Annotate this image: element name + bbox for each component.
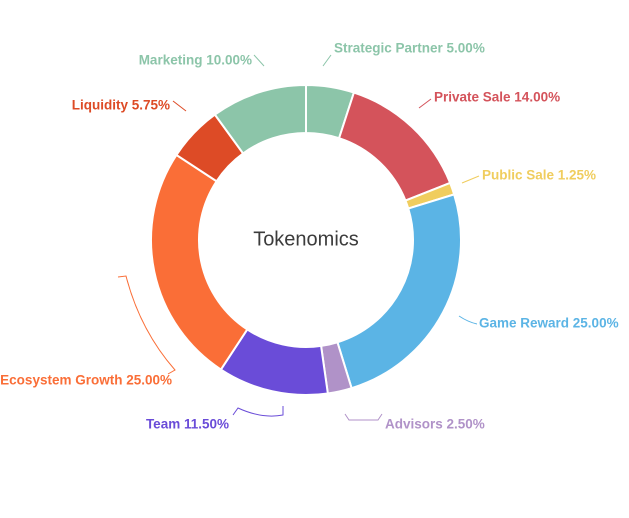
- slice-label-game-reward[interactable]: Game Reward 25.00%: [479, 316, 619, 331]
- slice-label-public-sale[interactable]: Public Sale 1.25%: [482, 168, 596, 183]
- chart-center-label: Tokenomics: [253, 228, 359, 250]
- leader-line-public-sale: [462, 176, 479, 183]
- leader-line-strategic-partner: [323, 55, 331, 66]
- leader-line-team: [233, 406, 283, 416]
- slice-label-strategic-partner[interactable]: Strategic Partner 5.00%: [334, 41, 485, 56]
- leader-line-game-reward: [459, 316, 477, 324]
- donut-chart: Strategic Partner 5.00%Private Sale 14.0…: [0, 0, 629, 518]
- slice-label-marketing[interactable]: Marketing 10.00%: [139, 53, 252, 68]
- donut-slice-ecosystem-growth[interactable]: [151, 155, 247, 370]
- donut-slice-game-reward[interactable]: [337, 194, 461, 388]
- slice-label-private-sale[interactable]: Private Sale 14.00%: [434, 90, 560, 105]
- slice-label-liquidity[interactable]: Liquidity 5.75%: [72, 98, 170, 113]
- leader-line-marketing: [254, 55, 264, 66]
- donut-slice-private-sale[interactable]: [339, 93, 450, 201]
- slice-label-team[interactable]: Team 11.50%: [146, 417, 229, 432]
- donut-chart-svg: Strategic Partner 5.00%Private Sale 14.0…: [0, 0, 629, 518]
- leader-line-liquidity: [173, 101, 186, 111]
- leader-line-private-sale: [419, 99, 431, 108]
- slice-label-ecosystem-growth[interactable]: Ecosystem Growth 25.00%: [0, 373, 172, 388]
- leader-line-advisors: [345, 414, 382, 420]
- slice-label-advisors[interactable]: Advisors 2.50%: [385, 417, 485, 432]
